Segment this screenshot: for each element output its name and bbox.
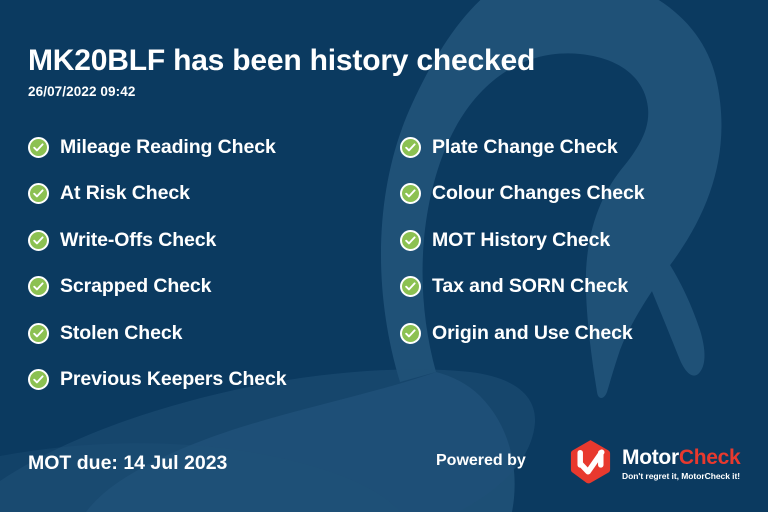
- list-item: Scrapped Check: [28, 264, 400, 311]
- check-circle-icon: [400, 230, 421, 251]
- check-circle-icon: [28, 230, 49, 251]
- list-item-label: Scrapped Check: [60, 275, 211, 298]
- list-item-label: Origin and Use Check: [432, 322, 633, 345]
- list-item-label: Plate Change Check: [432, 136, 618, 159]
- check-circle-icon: [400, 276, 421, 297]
- logo-text-block: MotorCheck Don't regret it, MotorCheck i…: [622, 447, 740, 481]
- check-circle-icon: [28, 183, 49, 204]
- list-item-label: Stolen Check: [60, 322, 182, 345]
- list-item: Previous Keepers Check: [28, 357, 400, 404]
- check-circle-icon: [400, 137, 421, 158]
- check-circle-icon: [28, 369, 49, 390]
- list-item: Colour Changes Check: [400, 171, 740, 218]
- list-item-label: Mileage Reading Check: [60, 136, 276, 159]
- logo-word-check: Check: [679, 446, 741, 469]
- list-item: Stolen Check: [28, 310, 400, 357]
- check-circle-icon: [400, 323, 421, 344]
- list-item-label: Tax and SORN Check: [432, 275, 628, 298]
- motorcheck-logo[interactable]: MotorCheck Don't regret it, MotorCheck i…: [567, 438, 740, 490]
- list-item: Tax and SORN Check: [400, 264, 740, 311]
- hexagon-check-logo-icon: [567, 438, 614, 490]
- logo-word-motor: Motor: [622, 446, 679, 469]
- history-check-summary-card: MK20BLF has been history checked 26/07/2…: [0, 0, 768, 512]
- list-item-label: MOT History Check: [432, 229, 610, 252]
- list-item-label: Colour Changes Check: [432, 182, 645, 205]
- checks-right-column: Plate Change Check Colour Changes Check …: [400, 124, 740, 403]
- check-circle-icon: [28, 276, 49, 297]
- card-header: MK20BLF has been history checked 26/07/2…: [28, 44, 535, 99]
- list-item-label: Write-Offs Check: [60, 229, 216, 252]
- powered-by-label: Powered by: [436, 452, 526, 470]
- list-item: Plate Change Check: [400, 124, 740, 171]
- logo-tagline: Don't regret it, MotorCheck it!: [622, 471, 740, 481]
- list-item: Origin and Use Check: [400, 310, 740, 357]
- list-item: MOT History Check: [400, 217, 740, 264]
- checks-container: Mileage Reading Check At Risk Check Writ…: [28, 124, 740, 403]
- list-item: Mileage Reading Check: [28, 124, 400, 171]
- report-timestamp: 26/07/2022 09:42: [28, 84, 535, 99]
- check-circle-icon: [400, 183, 421, 204]
- logo-wordmark: MotorCheck: [622, 447, 740, 468]
- page-title: MK20BLF has been history checked: [28, 44, 535, 77]
- mot-due-text: MOT due: 14 Jul 2023: [28, 452, 227, 475]
- check-circle-icon: [28, 323, 49, 344]
- list-item: At Risk Check: [28, 171, 400, 218]
- checks-left-column: Mileage Reading Check At Risk Check Writ…: [28, 124, 400, 403]
- list-item: Write-Offs Check: [28, 217, 400, 264]
- list-item-label: At Risk Check: [60, 182, 190, 205]
- check-circle-icon: [28, 137, 49, 158]
- list-item-label: Previous Keepers Check: [60, 368, 287, 391]
